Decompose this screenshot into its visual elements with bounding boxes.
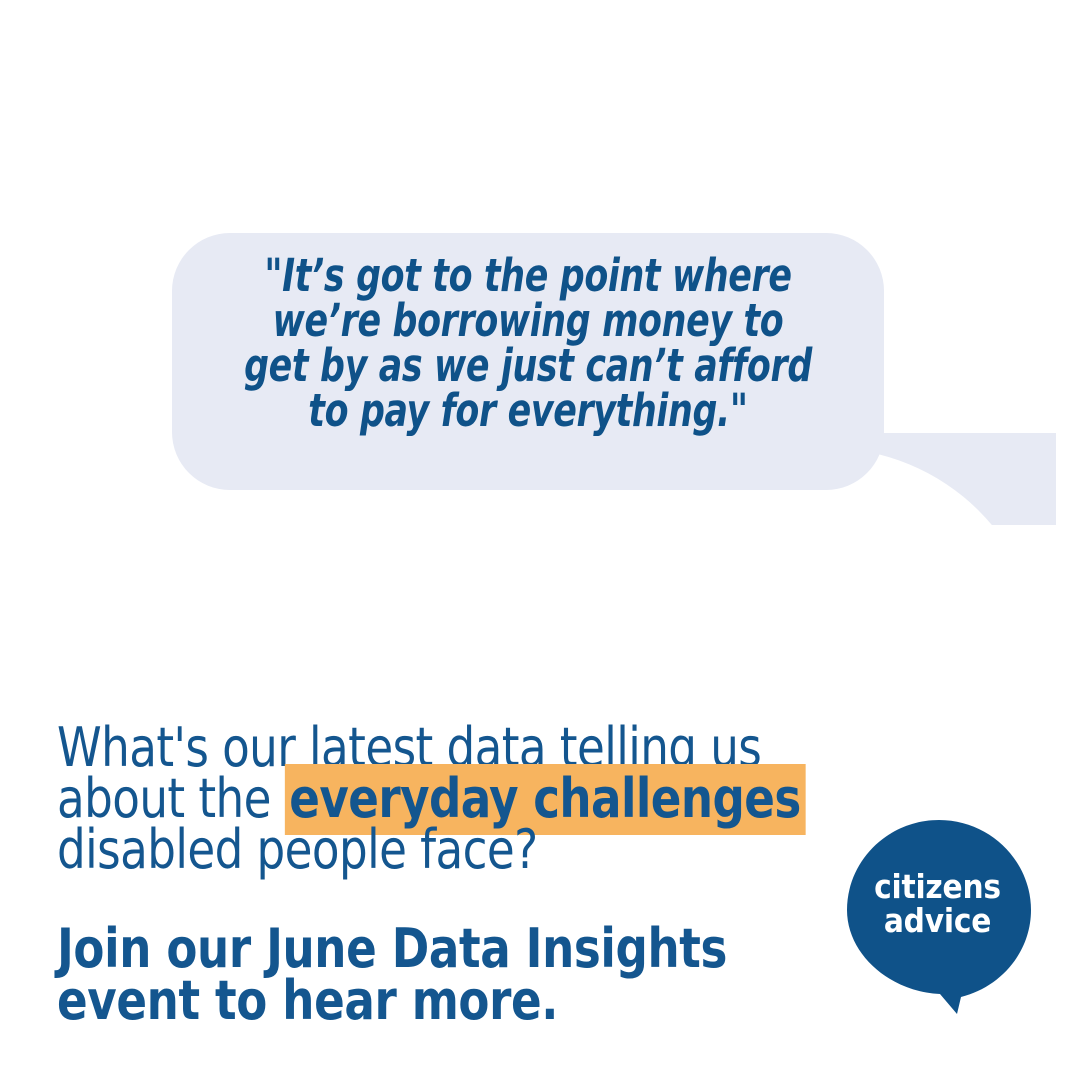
quote-text: "It’s got to the point where we’re borro… [241, 253, 815, 433]
headline-question-part-2: disabled people face? [57, 818, 538, 881]
quote-speech-bubble: "It’s got to the point where we’re borro… [172, 233, 884, 490]
logo-text-line-1: citizens [845, 870, 1030, 904]
logo-text: citizens advice [845, 870, 1030, 938]
citizens-advice-logo: citizens advice [845, 818, 1033, 1033]
logo-text-line-2: advice [845, 904, 1030, 938]
headline-cta: Join our June Data Insights event to hea… [57, 923, 875, 1027]
headline-block: What's our latest data telling us about … [57, 722, 937, 1027]
poster-canvas: "It’s got to the point where we’re borro… [0, 0, 1080, 1080]
headline-question: What's our latest data telling us about … [57, 722, 875, 875]
